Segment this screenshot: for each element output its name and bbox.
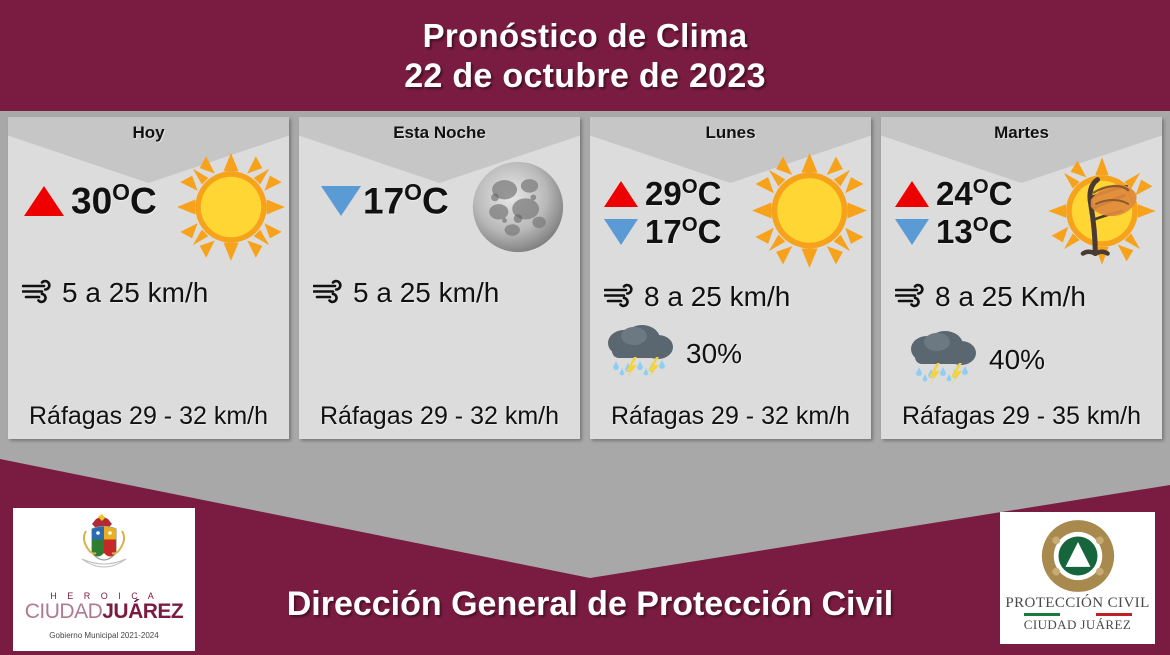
- temperature-high-row: 30OC: [24, 179, 157, 222]
- card-day-label: Hoy: [8, 123, 289, 143]
- temperature-high-value: 30OC: [71, 179, 157, 222]
- forecast-card-row: Hoy 30OC: [0, 117, 1170, 442]
- temperature-high-row: 29OC: [604, 175, 721, 213]
- civil-protection-emblem-icon: [1039, 517, 1117, 595]
- logo-city-label: CIUDADJUÁREZ: [25, 601, 184, 623]
- forecast-card-esta-noche[interactable]: Esta Noche 17OC: [299, 117, 580, 439]
- wind-icon: [313, 278, 347, 309]
- wind-row: 5 a 25 km/h: [22, 277, 208, 309]
- card-day-label: Martes: [881, 123, 1162, 143]
- precipitation-chance: 30%: [686, 338, 742, 370]
- temperature-low-value: 17OC: [645, 213, 721, 251]
- temperature-high-row: 24OC: [895, 175, 1012, 213]
- forecast-card-martes[interactable]: Martes 24OC 13OC: [881, 117, 1162, 439]
- wind-speed-value: 8 a 25 km/h: [644, 281, 790, 313]
- temperature-low-row: 17OC: [321, 179, 449, 222]
- footer-title: Dirección General de Protección Civil: [195, 585, 985, 624]
- temperature-high-value: 29OC: [645, 175, 721, 213]
- wind-icon: [895, 282, 929, 313]
- precipitation-row: 30%: [604, 323, 742, 384]
- windy-tree-sun-icon: [1046, 155, 1158, 272]
- logo-city-thin: CIUDAD: [25, 600, 103, 623]
- forecast-card-lunes[interactable]: Lunes 29OC 17OC: [590, 117, 871, 439]
- gusts-label: Ráfagas 29 - 35 km/h: [881, 402, 1162, 431]
- temperature-low-value: 17OC: [363, 179, 449, 222]
- page-title-line1: Pronóstico de Clima: [423, 16, 748, 56]
- proteccion-civil-subtitle: CIUDAD JUÁREZ: [1024, 617, 1131, 633]
- temperature-high-value: 24OC: [936, 175, 1012, 213]
- arrow-up-icon: [24, 186, 64, 216]
- card-day-label: Lunes: [590, 123, 871, 143]
- wind-speed-value: 5 a 25 km/h: [353, 277, 499, 309]
- arrow-up-icon: [604, 181, 638, 207]
- precipitation-row: 40%: [907, 329, 1045, 390]
- coat-of-arms-icon: [68, 512, 140, 590]
- wind-icon: [22, 278, 56, 309]
- arrow-up-icon: [895, 181, 929, 207]
- sun-icon: [177, 153, 285, 266]
- wind-icon: [604, 282, 638, 313]
- temperature-low-row: 13OC: [895, 213, 1012, 251]
- tricolor-divider: [1024, 613, 1132, 616]
- arrow-down-icon: [604, 219, 638, 245]
- arrow-down-icon: [321, 186, 361, 216]
- temperature-low-row: 17OC: [604, 213, 721, 251]
- gusts-label: Ráfagas 29 - 32 km/h: [590, 402, 871, 431]
- wind-row: 8 a 25 km/h: [604, 281, 790, 313]
- logo-government-label: Gobierno Municipal 2021-2024: [49, 631, 158, 640]
- proteccion-civil-logo: PROTECCIÓN CIVIL CIUDAD JUÁREZ: [1000, 512, 1155, 644]
- wind-row: 8 a 25 Km/h: [895, 281, 1086, 313]
- forecast-card-hoy[interactable]: Hoy 30OC: [8, 117, 289, 439]
- arrow-down-icon: [895, 219, 929, 245]
- storm-rain-cloud-icon: [604, 323, 676, 384]
- full-moon-icon: [470, 159, 566, 260]
- card-day-label: Esta Noche: [299, 123, 580, 143]
- temperature-low-value: 13OC: [936, 213, 1012, 251]
- header-banner: Pronóstico de Clima 22 de octubre de 202…: [0, 0, 1170, 111]
- wind-speed-value: 8 a 25 Km/h: [935, 281, 1086, 313]
- sun-icon: [752, 153, 867, 273]
- ciudad-juarez-logo: H E R O I C A CIUDADJUÁREZ Gobierno Muni…: [13, 508, 195, 651]
- page-title-line2: 22 de octubre de 2023: [404, 56, 766, 96]
- logo-city-bold: JUÁREZ: [102, 600, 183, 623]
- proteccion-civil-title: PROTECCIÓN CIVIL: [1005, 595, 1149, 612]
- wind-speed-value: 5 a 25 km/h: [62, 277, 208, 309]
- gusts-label: Ráfagas 29 - 32 km/h: [299, 402, 580, 431]
- wind-row: 5 a 25 km/h: [313, 277, 499, 309]
- storm-rain-cloud-icon: [907, 329, 979, 390]
- gusts-label: Ráfagas 29 - 32 km/h: [8, 402, 289, 431]
- precipitation-chance: 40%: [989, 344, 1045, 376]
